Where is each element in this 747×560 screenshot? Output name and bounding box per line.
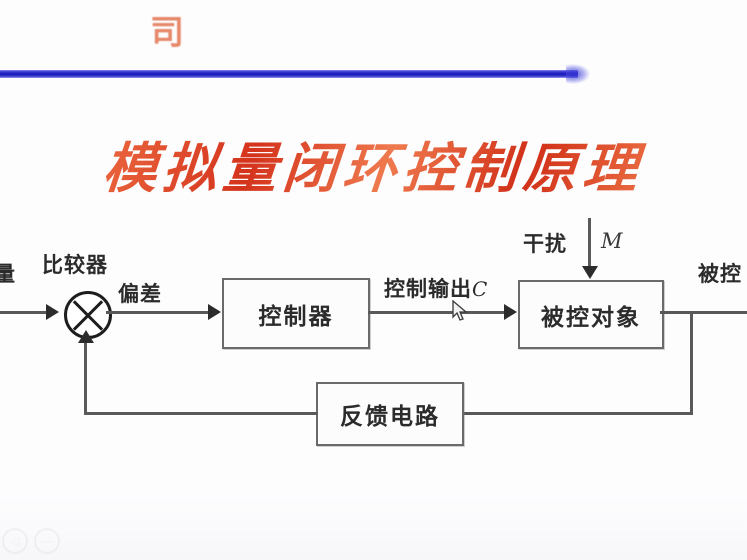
wire-feedback-tap — [690, 311, 693, 415]
slide-screen: 司 模拟量闭环控制原理 量 比较器 偏差 控制器 控制输出C — [0, 0, 747, 560]
comparator-label: 比较器 — [42, 249, 108, 279]
control-output-label: 控制输出C — [384, 273, 488, 303]
wire-controller-to-plant — [368, 311, 506, 314]
block-feedback-circuit-label: 反馈电路 — [340, 397, 440, 431]
block-feedback-circuit[interactable]: 反馈电路 — [316, 382, 464, 446]
wire-input-to-comparator — [0, 311, 46, 314]
block-plant-label: 被控对象 — [541, 298, 641, 332]
block-controller[interactable]: 控制器 — [222, 278, 370, 349]
ghost-player-controls[interactable]: ◁ — — [2, 528, 60, 554]
output-signal-label: 被控 — [698, 258, 742, 288]
wire-feedback-to-comparator — [84, 412, 318, 415]
wire-comparator-to-controller — [106, 311, 210, 314]
arrow-disturbance-to-plant-icon — [582, 266, 598, 279]
wire-feedback-riser — [84, 338, 87, 414]
block-plant[interactable]: 被控对象 — [518, 280, 664, 349]
bottom-fade — [0, 496, 747, 560]
arrow-feedback-to-comparator-icon — [78, 330, 94, 343]
previous-track-icon[interactable]: ◁ — [2, 528, 28, 554]
arrow-comparator-to-controller-icon — [208, 304, 221, 320]
block-controller-label: 控制器 — [259, 297, 334, 331]
arrow-input-to-comparator-icon — [46, 304, 59, 320]
wire-feedback-return — [460, 412, 693, 415]
wire-plant-output — [660, 311, 747, 314]
play-pause-icon[interactable]: — — [34, 528, 60, 554]
block-diagram: 量 比较器 偏差 控制器 控制输出C 干扰 M — [0, 0, 747, 560]
deviation-label: 偏差 — [118, 278, 162, 308]
control-output-variable: C — [472, 277, 488, 301]
arrow-controller-to-plant-icon — [504, 304, 517, 320]
disturbance-variable: M — [601, 229, 623, 253]
control-output-text: 控制输出 — [384, 277, 472, 301]
wire-disturbance-to-plant — [588, 218, 591, 270]
disturbance-label: 干扰 — [523, 228, 567, 258]
input-signal-label: 量 — [0, 258, 16, 288]
mouse-pointer-cursor — [452, 300, 468, 322]
